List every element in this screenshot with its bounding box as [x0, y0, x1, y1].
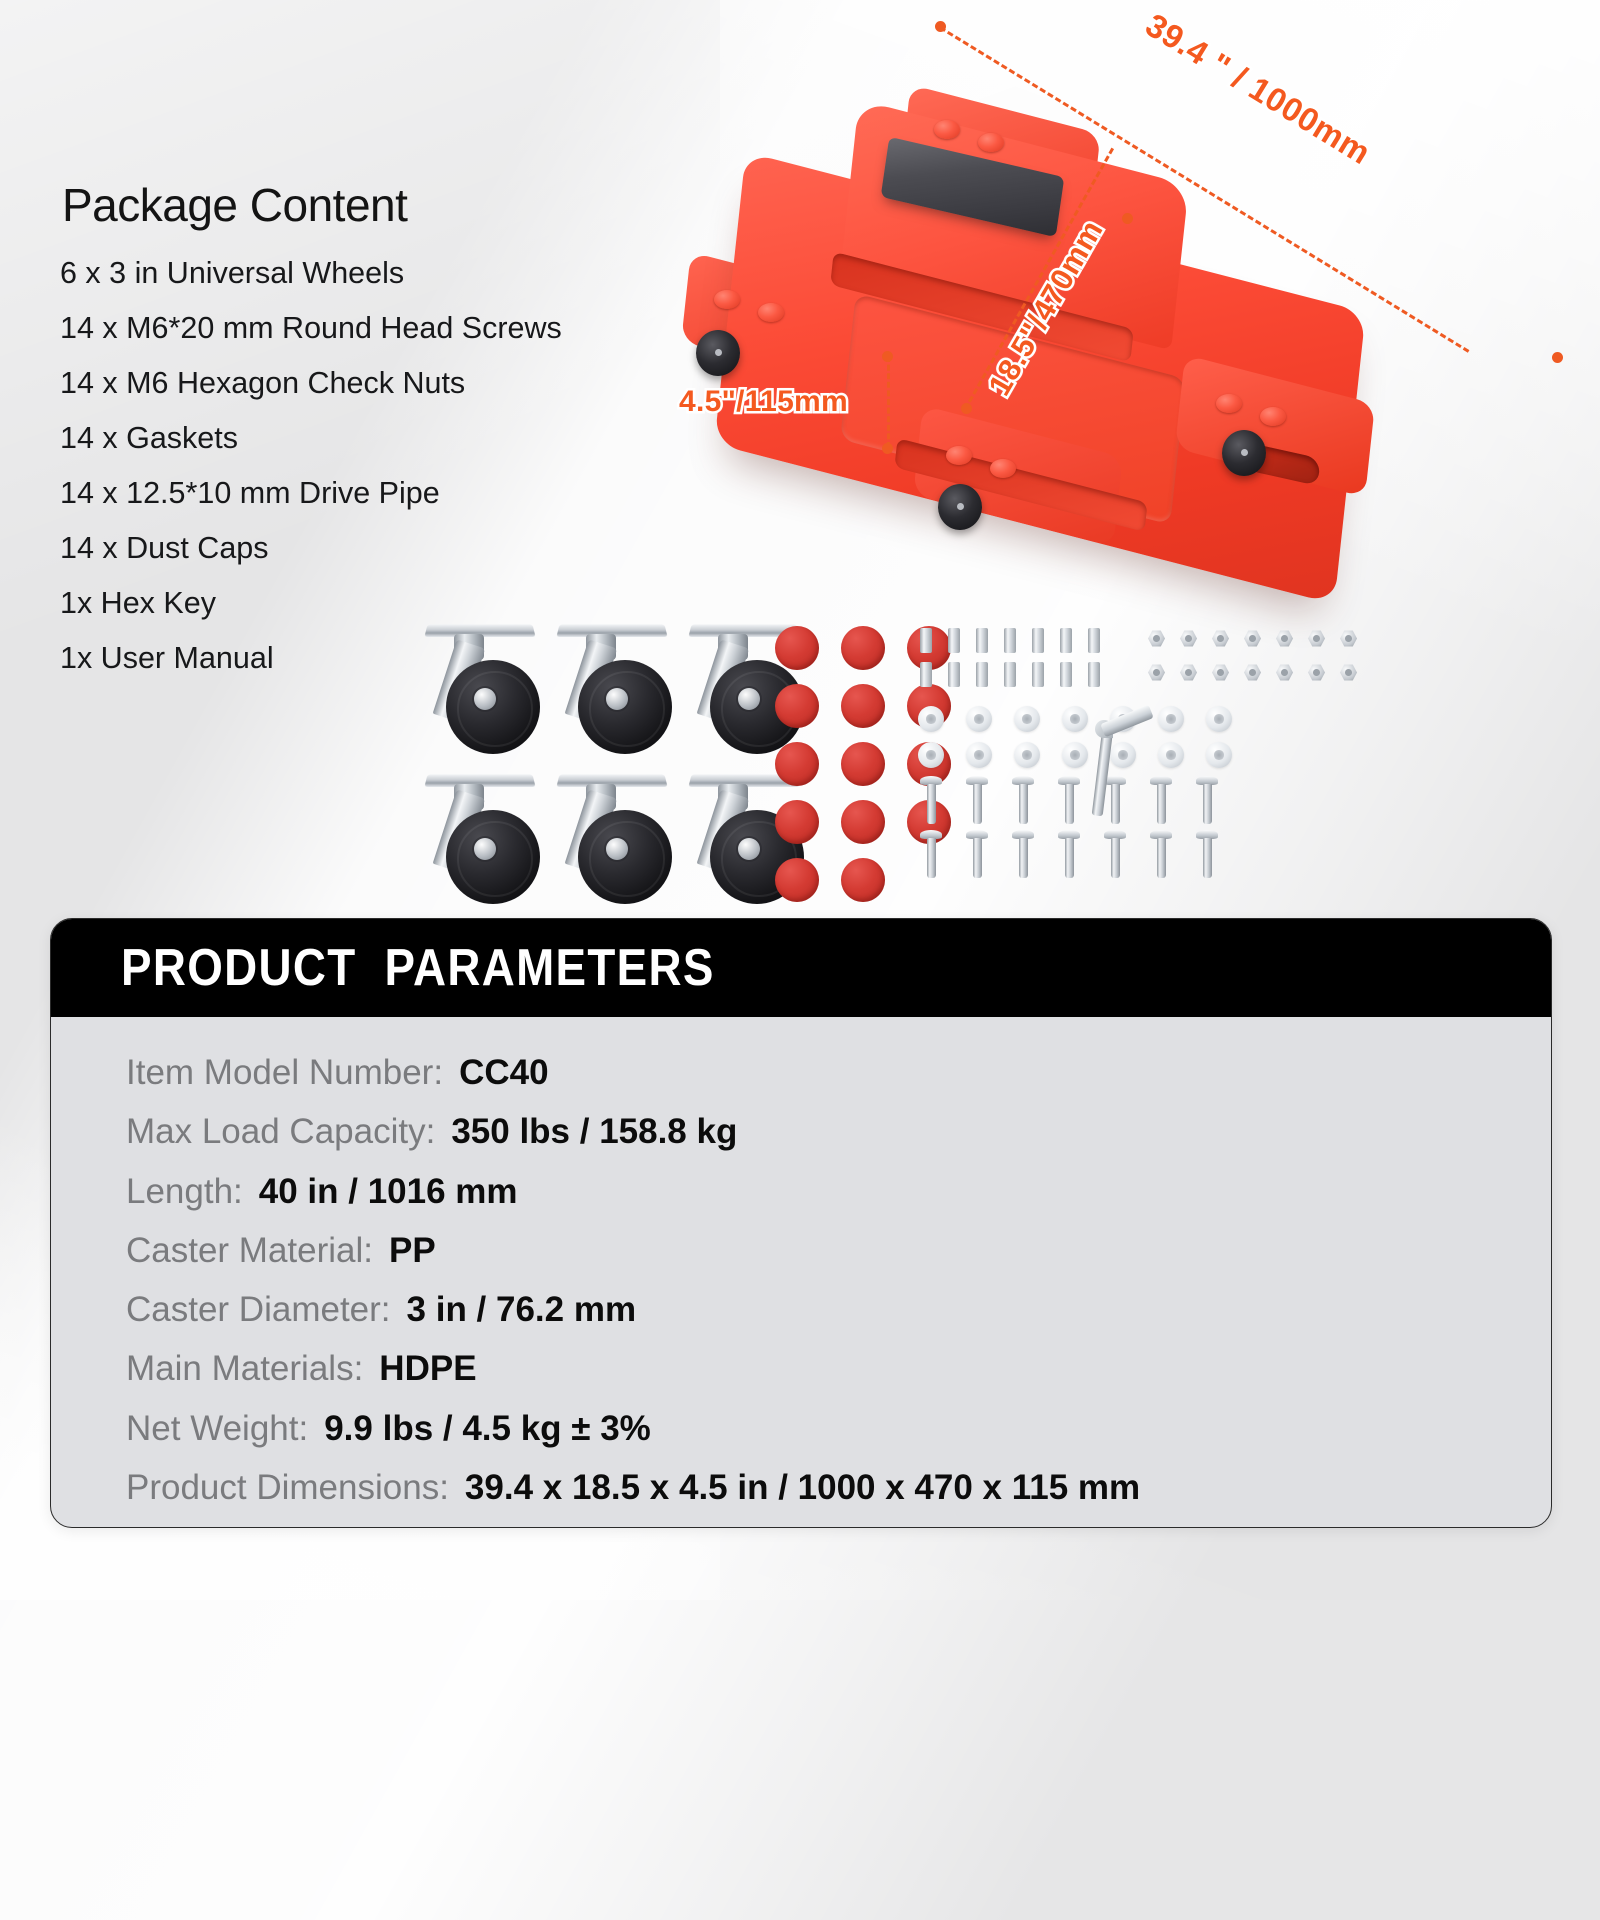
gasket-washer [1158, 742, 1184, 768]
hex-nut [1308, 630, 1325, 647]
hex-nut [1244, 664, 1261, 681]
product-photo [630, 20, 1590, 680]
drive-pipe [920, 628, 932, 653]
dimension-endpoint-dot [882, 351, 893, 362]
board-caster [696, 330, 740, 376]
gasket-washer [1158, 706, 1184, 732]
parameter-value: CC40 [459, 1049, 548, 1096]
dust-cap [841, 742, 885, 786]
board-rivet [714, 290, 740, 309]
drive-pipe [1004, 662, 1016, 687]
screw-shaft [1065, 784, 1074, 824]
round-head-screw [920, 776, 942, 824]
drive-pipe [1060, 662, 1072, 687]
round-head-screw [1012, 830, 1034, 878]
dust-cap [841, 858, 885, 902]
caster-hub [474, 688, 496, 710]
board-rivet [990, 459, 1016, 478]
round-head-screw [1196, 830, 1218, 878]
dimension-label-height: 4.5"/115mm [679, 385, 848, 419]
drive-pipe [976, 662, 988, 687]
screw-shaft [927, 784, 936, 824]
parameter-value: HDPE [379, 1345, 476, 1392]
drive-pipe [1088, 628, 1100, 653]
parameter-value: 39.4 x 18.5 x 4.5 in / 1000 x 470 x 115 … [465, 1464, 1140, 1511]
product-parameters-panel: PRODUCT PARAMETERS Item Model Number: CC… [50, 918, 1552, 1528]
round-head-screw [920, 830, 942, 878]
caster-wheel-item [420, 768, 542, 918]
dimension-endpoint-dot [1122, 213, 1133, 224]
caster-hub [474, 838, 496, 860]
accessories-layout [420, 618, 1200, 888]
parameter-label: Length: [126, 1168, 243, 1215]
drive-pipes-row [920, 662, 1100, 687]
screw-shaft [1157, 838, 1166, 878]
hex-nut [1340, 630, 1357, 647]
drive-pipe [948, 628, 960, 653]
screws-row [920, 776, 1218, 824]
screw-shaft [927, 838, 936, 878]
hex-nut [1180, 630, 1197, 647]
drive-pipe [1032, 662, 1044, 687]
dust-cap [841, 800, 885, 844]
parameter-label: Max Load Capacity: [126, 1108, 435, 1155]
gasket-washer [1014, 706, 1040, 732]
caster-wheel-item [552, 618, 674, 768]
caster-tire [578, 660, 672, 754]
drive-pipe [976, 628, 988, 653]
caster-tire [446, 810, 540, 904]
parameter-row: Product Dimensions: 39.4 x 18.5 x 4.5 in… [126, 1464, 1551, 1511]
drive-pipe [1060, 628, 1072, 653]
hex-nuts-row [1148, 664, 1357, 681]
parameter-value: 40 in / 1016 mm [259, 1168, 518, 1215]
screw-shaft [1065, 838, 1074, 878]
dimension-line-height [887, 356, 890, 448]
caster-hub [606, 688, 628, 710]
dimension-endpoint-dot [935, 21, 946, 32]
gasket-washer [1206, 742, 1232, 768]
caster-wheel-item [420, 618, 542, 768]
board-rivet [934, 120, 960, 139]
gasket-washer [1206, 706, 1232, 732]
round-head-screw [1104, 830, 1126, 878]
round-head-screw [966, 776, 988, 824]
hex-nut [1340, 664, 1357, 681]
parameters-table: Item Model Number: CC40 Max Load Capacit… [51, 1017, 1551, 1511]
round-head-screw [1012, 776, 1034, 824]
dimension-endpoint-dot [1552, 352, 1563, 363]
gasket-washer [966, 706, 992, 732]
dust-cap [775, 858, 819, 902]
dust-cap [775, 742, 819, 786]
caster-wheels-group [420, 618, 806, 918]
screw-shaft [973, 838, 982, 878]
drive-pipe [1004, 628, 1016, 653]
caster-tire [446, 660, 540, 754]
hex-nut [1276, 664, 1293, 681]
hex-key-short-arm [1100, 705, 1153, 737]
parameter-value: 3 in / 76.2 mm [407, 1286, 637, 1333]
screw-shaft [1157, 784, 1166, 824]
hex-nut [1276, 630, 1293, 647]
caster-tire [578, 810, 672, 904]
parameter-row: Item Model Number: CC40 [126, 1049, 1551, 1096]
screw-shaft [1019, 838, 1028, 878]
hex-key-long-arm [1092, 728, 1114, 817]
hex-nut [1212, 630, 1229, 647]
board-rivet [758, 303, 784, 322]
hex-nut [1180, 664, 1197, 681]
board-caster [1222, 430, 1266, 476]
screw-shaft [973, 784, 982, 824]
gasket-washer [1014, 742, 1040, 768]
round-head-screw [1058, 830, 1080, 878]
drive-pipe [920, 662, 932, 687]
drive-pipe [1088, 662, 1100, 687]
gasket-washer [966, 742, 992, 768]
caster-hub [738, 838, 760, 860]
parameter-row: Net Weight: 9.9 lbs / 4.5 kg ± 3% [126, 1405, 1551, 1452]
screw-shaft [1019, 784, 1028, 824]
parameter-row: Main Materials: HDPE [126, 1345, 1551, 1392]
screw-shaft [1203, 838, 1212, 878]
gasket-washer [918, 742, 944, 768]
dust-cap [775, 626, 819, 670]
parameter-value: 350 lbs / 158.8 kg [451, 1108, 737, 1155]
creeper-board-illustration [660, 78, 1440, 598]
parameter-row: Length: 40 in / 1016 mm [126, 1168, 1551, 1215]
board-rivet [946, 446, 972, 465]
hex-nut [1308, 664, 1325, 681]
drive-pipe [948, 662, 960, 687]
drive-pipe [1032, 628, 1044, 653]
dust-cap [841, 684, 885, 728]
dust-cap [775, 684, 819, 728]
board-rivet [1216, 394, 1242, 413]
dust-cap [841, 626, 885, 670]
gasket-washer [918, 706, 944, 732]
hex-nut [1212, 664, 1229, 681]
parameters-header-bar: PRODUCT PARAMETERS [51, 919, 1551, 1017]
parameter-label: Main Materials: [126, 1345, 363, 1392]
parameter-value: 9.9 lbs / 4.5 kg ± 3% [324, 1405, 651, 1452]
caster-hub [606, 838, 628, 860]
hex-nut [1244, 630, 1261, 647]
caster-wheel-item [552, 768, 674, 918]
drive-pipes-row [920, 628, 1100, 653]
parameter-value: PP [389, 1227, 436, 1274]
hex-nut [1148, 664, 1165, 681]
screw-shaft [1111, 838, 1120, 878]
parameter-label: Item Model Number: [126, 1049, 443, 1096]
dimension-endpoint-dot [961, 403, 972, 414]
screw-shaft [1203, 784, 1212, 824]
round-head-screw [1150, 830, 1172, 878]
parameter-row: Max Load Capacity: 350 lbs / 158.8 kg [126, 1108, 1551, 1155]
parameter-label: Product Dimensions: [126, 1464, 449, 1511]
dust-cap [775, 800, 819, 844]
caster-hub [738, 688, 760, 710]
board-rivet [978, 133, 1004, 152]
hex-nuts-row [1148, 630, 1357, 647]
hex-key-icon [1075, 700, 1155, 810]
hex-nut [1148, 630, 1165, 647]
round-head-screw [966, 830, 988, 878]
parameters-title: PRODUCT PARAMETERS [121, 938, 715, 998]
round-head-screw [1196, 776, 1218, 824]
parameter-label: Net Weight: [126, 1405, 308, 1452]
parameter-label: Caster Diameter: [126, 1286, 391, 1333]
dimension-endpoint-dot [882, 443, 893, 454]
screws-row [920, 830, 1218, 878]
parameter-row: Caster Diameter: 3 in / 76.2 mm [126, 1286, 1551, 1333]
parameter-label: Caster Material: [126, 1227, 373, 1274]
board-caster [938, 484, 982, 530]
board-rivet [1260, 407, 1286, 426]
parameter-row: Caster Material: PP [126, 1227, 1551, 1274]
